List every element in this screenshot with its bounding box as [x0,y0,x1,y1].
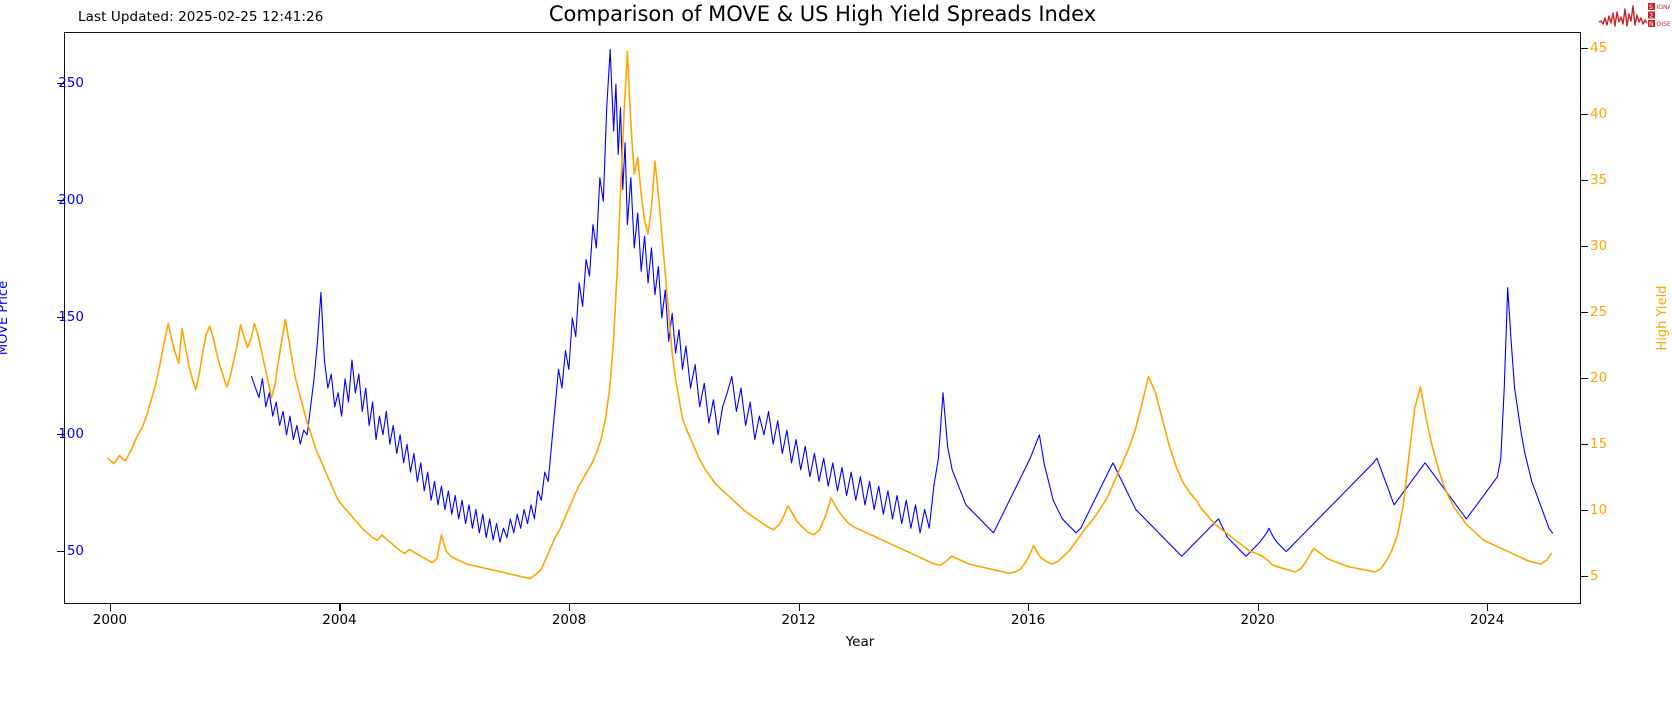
high-yield-line [108,51,1551,578]
y-axis-right-tickmark [1581,444,1588,445]
y-axis-right-tick-30: 30 [1590,238,1607,254]
y-axis-right-tickmark [1581,180,1588,181]
y-axis-right-tick-20: 20 [1590,370,1607,386]
series-canvas [65,33,1580,603]
x-axis-tickmark [339,604,340,611]
svg-text:N: N [1649,21,1654,28]
x-axis-tickmark [110,604,111,611]
y-axis-right-tickmark [1581,312,1588,313]
x-axis-tickmark [1258,604,1259,611]
chart-page: Last Updated: 2025-02-25 12:41:26 Compar… [0,0,1672,703]
y-axis-left-tickmark [57,200,64,201]
x-axis-tick-2020: 2020 [1240,612,1274,628]
y-axis-right-tick-25: 25 [1590,304,1607,320]
x-axis-tickmark [569,604,570,611]
logo-waveform-icon: S IGNAL 2 N OISE [1598,0,1670,30]
y-axis-left-tick-50: 50 [67,543,84,559]
x-axis-tickmark [1487,604,1488,611]
x-axis-label: Year [0,634,1672,650]
y-axis-right-tickmark [1581,378,1588,379]
plot-area [64,32,1581,604]
signal-2-noise-logo: S IGNAL 2 N OISE [1598,0,1670,30]
x-axis-tick-2012: 2012 [781,612,815,628]
y-axis-right-tickmark [1581,114,1588,115]
chart-title: Comparison of MOVE & US High Yield Sprea… [64,2,1581,26]
y-axis-right-tick-15: 15 [1590,436,1607,452]
x-axis-tick-2004: 2004 [322,612,356,628]
logo-text-signal: IGNAL [1656,4,1670,11]
x-axis-tickmark [1028,604,1029,611]
series-lines [65,33,1580,603]
logo-text-noise: OISE [1656,21,1670,28]
x-axis-tick-2000: 2000 [93,612,127,628]
y-axis-right-tickmark [1581,510,1588,511]
svg-text:S: S [1649,4,1653,11]
y-axis-left-tickmark [57,317,64,318]
y-axis-right-tick-40: 40 [1590,106,1607,122]
y-axis-left-label: MOVE Price [0,281,11,355]
x-axis-tickmark [799,604,800,611]
y-axis-right-tickmark [1581,246,1588,247]
y-axis-right-tickmark [1581,48,1588,49]
y-axis-right-tick-5: 5 [1590,568,1599,584]
move-price-line [252,49,1553,556]
y-axis-right-tick-10: 10 [1590,502,1607,518]
x-axis-tick-2024: 2024 [1470,612,1504,628]
y-axis-right-tickmark [1581,576,1588,577]
y-axis-left-tickmark [57,83,64,84]
y-axis-right-tick-35: 35 [1590,172,1607,188]
y-axis-left-tickmark [57,551,64,552]
x-axis-label-text: Year [846,634,875,650]
y-axis-right-tick-45: 45 [1590,40,1607,56]
logo-text-two: 2 [1649,13,1653,20]
y-axis-right-label: High Yield [1655,286,1670,351]
x-axis-tick-2016: 2016 [1011,612,1045,628]
y-axis-left-tickmark [57,434,64,435]
x-axis-tick-2008: 2008 [552,612,586,628]
